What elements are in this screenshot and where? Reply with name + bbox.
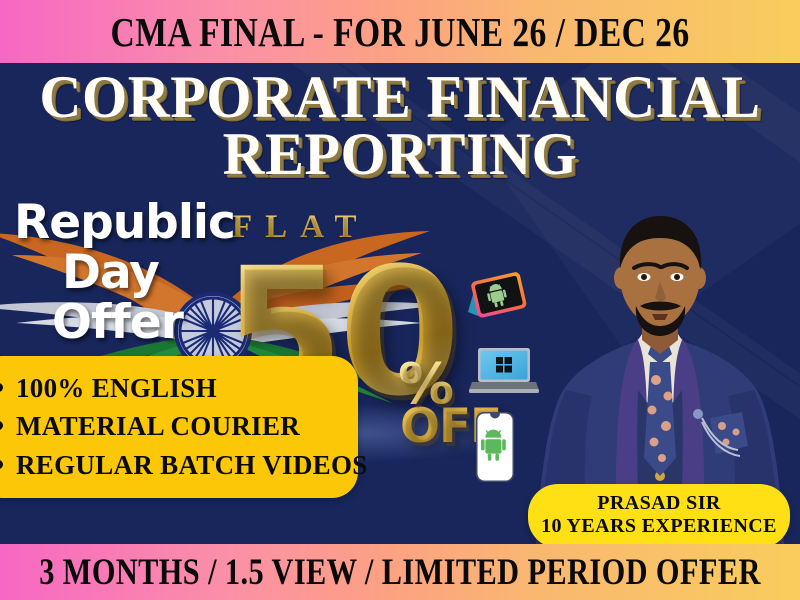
headline-line-2: REPORTING	[12, 126, 788, 183]
list-item: 100% ENGLISH	[16, 369, 340, 407]
promo-banner: CMA FINAL - FOR JUNE 26 / DEC 26 CORPORA…	[0, 0, 800, 600]
bottom-offer-bar: 3 MONTHS / 1.5 VIEW / LIMITED PERIOD OFF…	[0, 544, 800, 600]
top-bar-text: CMA FINAL - FOR JUNE 26 / DEC 26	[110, 8, 689, 56]
instructor-experience: 10 YEARS EXPERIENCE	[534, 515, 784, 539]
list-item: MATERIAL COURIER	[16, 407, 340, 445]
windows-laptop-icon	[468, 345, 540, 397]
list-item: REGULAR BATCH VIDEOS	[16, 446, 340, 484]
top-headline-bar: CMA FINAL - FOR JUNE 26 / DEC 26	[0, 0, 800, 63]
instructor-badge: PRASAD SIR 10 YEARS EXPERIENCE	[528, 484, 790, 548]
republic-line-1: Republic	[14, 199, 235, 247]
republic-day-offer-text: Republic Day Offer	[10, 199, 235, 347]
features-list: 100% ENGLISH MATERIAL COURIER REGULAR BA…	[16, 369, 340, 484]
instructor-name: PRASAD SIR	[534, 492, 784, 516]
republic-line-2: Day	[62, 249, 235, 297]
bottom-bar-text: 3 MONTHS / 1.5 VIEW / LIMITED PERIOD OFF…	[39, 551, 761, 594]
page-title: CORPORATE FINANCIAL REPORTING	[12, 69, 788, 183]
android-phone-icon	[473, 411, 517, 483]
android-tablet-icon	[462, 268, 528, 324]
republic-line-3: Offer	[52, 299, 235, 347]
features-box: 100% ENGLISH MATERIAL COURIER REGULAR BA…	[0, 356, 358, 498]
